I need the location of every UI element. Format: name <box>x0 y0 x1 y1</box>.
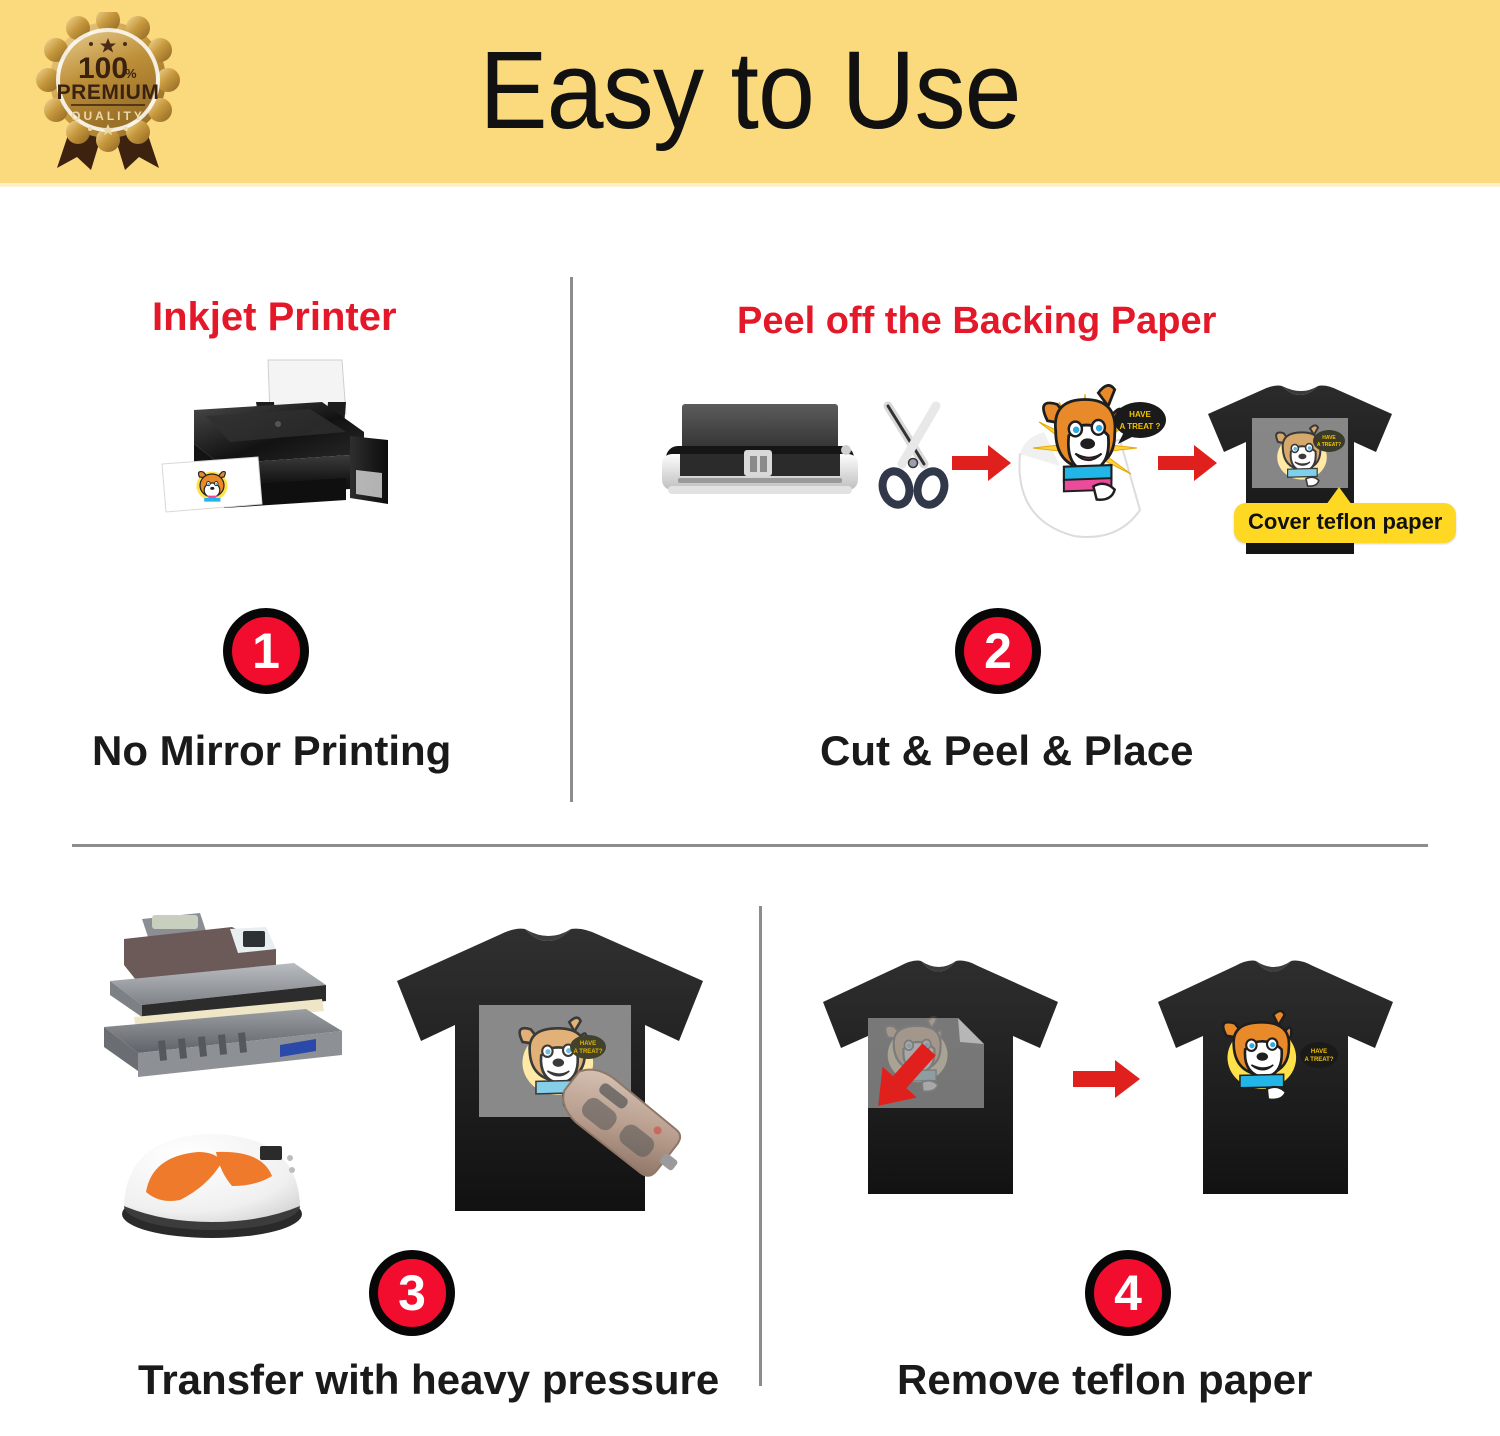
cutting-machine-illustration <box>660 398 860 508</box>
callout-label: Cover teflon paper <box>1248 509 1442 534</box>
step-1-caption: No Mirror Printing <box>92 727 451 775</box>
step-3-caption: Transfer with heavy pressure <box>138 1356 719 1404</box>
svg-text:A TREAT?: A TREAT? <box>1317 442 1341 448</box>
svg-text:HAVE: HAVE <box>1311 1049 1327 1055</box>
svg-text:A TREAT?: A TREAT? <box>574 1049 603 1055</box>
step-4-badge: 4 <box>1085 1250 1171 1336</box>
svg-text:HAVE: HAVE <box>1322 435 1336 441</box>
inkjet-printer-illustration <box>150 358 420 528</box>
mini-heat-press-illustration <box>112 1110 312 1240</box>
dog-decal-peeling-illustration: HAVE A TREAT ? <box>1000 370 1170 545</box>
svg-text:HAVE: HAVE <box>580 1041 596 1047</box>
scissors-illustration <box>872 400 954 510</box>
cover-teflon-paper-callout: Cover teflon paper <box>1234 503 1456 543</box>
step-4-caption: Remove teflon paper <box>897 1356 1312 1404</box>
speech-line-1: HAVE <box>1129 410 1151 419</box>
red-arrow-icon <box>1073 1058 1141 1100</box>
tshirt-peeling-teflon-illustration <box>820 956 1070 1206</box>
step-3-badge: 3 <box>369 1250 455 1336</box>
tshirt-iron-pressing-illustration: HAVE A TREAT? <box>393 923 723 1223</box>
vertical-divider-top <box>570 277 573 802</box>
step-1-heading: Inkjet Printer <box>152 295 397 340</box>
swing-away-heat-press-illustration <box>80 905 360 1095</box>
speech-line-2: A TREAT ? <box>1120 422 1161 431</box>
header-underline <box>0 183 1500 187</box>
vertical-divider-bottom <box>759 906 762 1386</box>
step-2-heading: Peel off the Backing Paper <box>737 300 1216 343</box>
page-title: Easy to Use <box>53 16 1448 166</box>
tshirt-finished-print-illustration: HAVE A TREAT? <box>1155 956 1405 1206</box>
header-band: 100 % PREMIUM QUALITY Easy to Use <box>0 0 1500 183</box>
step-2-badge: 2 <box>955 608 1041 694</box>
step-2-caption: Cut & Peel & Place <box>820 727 1193 775</box>
horizontal-divider <box>72 844 1428 847</box>
callout-tail <box>1326 487 1352 505</box>
svg-text:A TREAT?: A TREAT? <box>1305 1057 1334 1063</box>
step-1-badge: 1 <box>223 608 309 694</box>
infographic-page: 100 % PREMIUM QUALITY Easy to Use Inkjet… <box>0 0 1500 1436</box>
